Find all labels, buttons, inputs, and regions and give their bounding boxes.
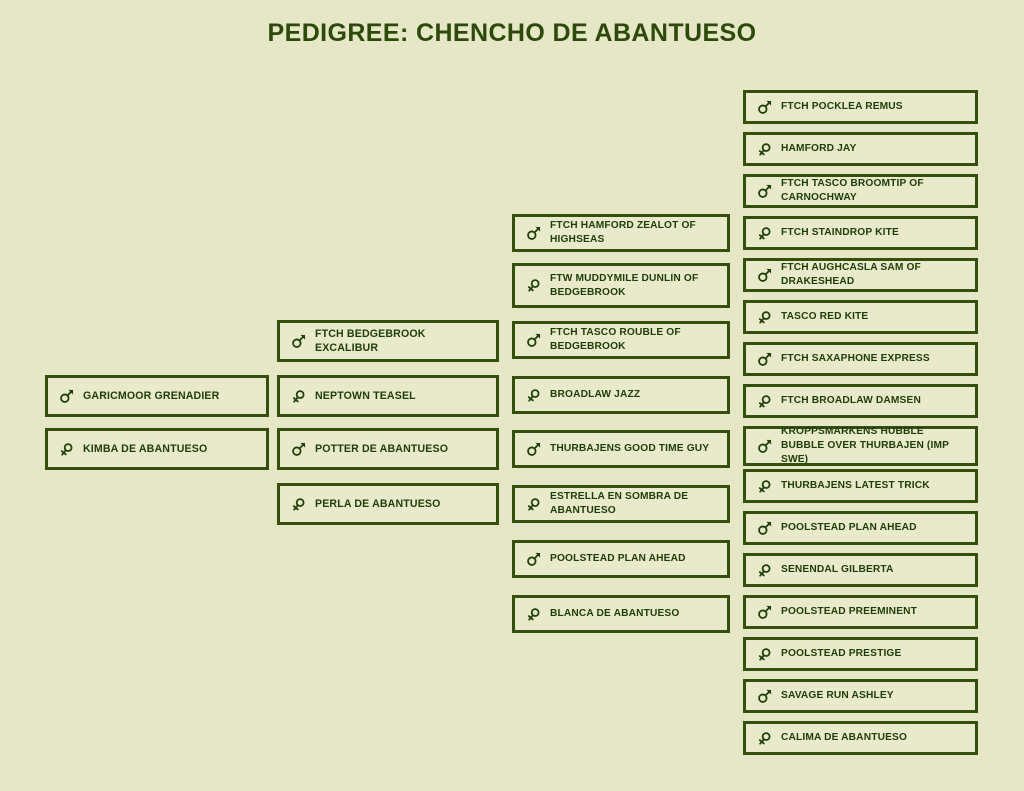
female-symbol-icon [291, 388, 306, 404]
dog-name: HAMFORD JAY [781, 142, 856, 156]
female-symbol-icon [757, 141, 772, 157]
dog-name: KIMBA DE ABANTUESO [83, 442, 207, 456]
pedigree-box[interactable]: SAVAGE RUN ASHLEY [743, 679, 978, 713]
pedigree-box[interactable]: FTCH TASCO ROUBLE OF BEDGEBROOK [512, 321, 730, 359]
dog-name: FTCH HAMFORD ZEALOT OF HIGHSEAS [550, 219, 721, 247]
dog-name: KROPPSMARKENS HUBBLE BUBBLE OVER THURBAJ… [781, 425, 969, 467]
pedigree-box[interactable]: KIMBA DE ABANTUESO [45, 428, 269, 470]
pedigree-box[interactable]: POOLSTEAD PRESTIGE [743, 637, 978, 671]
pedigree-box[interactable]: POOLSTEAD PLAN AHEAD [512, 540, 730, 578]
dog-name: BROADLAW JAZZ [550, 388, 640, 402]
pedigree-box[interactable]: CALIMA DE ABANTUESO [743, 721, 978, 755]
dog-name: THURBAJENS GOOD TIME GUY [550, 442, 709, 456]
dog-name: NEPTOWN TEASEL [315, 389, 416, 403]
pedigree-box[interactable]: NEPTOWN TEASEL [277, 375, 499, 417]
male-symbol-icon [757, 604, 772, 620]
pedigree-box[interactable]: PERLA DE ABANTUESO [277, 483, 499, 525]
male-symbol-icon [757, 99, 772, 115]
pedigree-box[interactable]: TASCO RED KITE [743, 300, 978, 334]
generation-column-4: FTCH POCKLEA REMUSHAMFORD JAYFTCH TASCO … [743, 0, 978, 791]
female-symbol-icon [757, 562, 772, 578]
pedigree-box[interactable]: POTTER DE ABANTUESO [277, 428, 499, 470]
male-symbol-icon [291, 333, 306, 349]
pedigree-box[interactable]: KROPPSMARKENS HUBBLE BUBBLE OVER THURBAJ… [743, 426, 978, 466]
male-symbol-icon [757, 183, 772, 199]
pedigree-box[interactable]: HAMFORD JAY [743, 132, 978, 166]
female-symbol-icon [526, 278, 541, 294]
pedigree-box[interactable]: FTCH AUGHCASLA SAM OF DRAKESHEAD [743, 258, 978, 292]
dog-name: FTCH POCKLEA REMUS [781, 100, 903, 114]
dog-name: FTCH AUGHCASLA SAM OF DRAKESHEAD [781, 261, 969, 289]
female-symbol-icon [757, 393, 772, 409]
dog-name: TASCO RED KITE [781, 310, 868, 324]
male-symbol-icon [757, 520, 772, 536]
pedigree-box[interactable]: FTCH STAINDROP KITE [743, 216, 978, 250]
pedigree-box[interactable]: GARICMOOR GRENADIER [45, 375, 269, 417]
female-symbol-icon [526, 387, 541, 403]
male-symbol-icon [526, 225, 541, 241]
pedigree-box[interactable]: FTCH BROADLAW DAMSEN [743, 384, 978, 418]
female-symbol-icon [757, 309, 772, 325]
pedigree-box[interactable]: FTCH POCKLEA REMUS [743, 90, 978, 124]
dog-name: FTCH TASCO BROOMTIP OF CARNOCHWAY [781, 177, 969, 205]
dog-name: SENENDAL GILBERTA [781, 563, 894, 577]
female-symbol-icon [757, 478, 772, 494]
dog-name: GARICMOOR GRENADIER [83, 389, 219, 403]
pedigree-box[interactable]: THURBAJENS LATEST TRICK [743, 469, 978, 503]
male-symbol-icon [757, 351, 772, 367]
male-symbol-icon [59, 388, 74, 404]
female-symbol-icon [59, 441, 74, 457]
dog-name: POTTER DE ABANTUESO [315, 442, 448, 456]
dog-name: PERLA DE ABANTUESO [315, 497, 441, 511]
dog-name: POOLSTEAD PLAN AHEAD [550, 552, 686, 566]
pedigree-box[interactable]: ESTRELLA EN SOMBRA DE ABANTUESO [512, 485, 730, 523]
female-symbol-icon [757, 646, 772, 662]
male-symbol-icon [757, 438, 772, 454]
pedigree-box[interactable]: FTCH BEDGEBROOK EXCALIBUR [277, 320, 499, 362]
dog-name: THURBAJENS LATEST TRICK [781, 479, 930, 493]
male-symbol-icon [526, 332, 541, 348]
dog-name: FTCH STAINDROP KITE [781, 226, 899, 240]
pedigree-box[interactable]: BLANCA DE ABANTUESO [512, 595, 730, 633]
male-symbol-icon [526, 441, 541, 457]
dog-name: FTCH BEDGEBROOK EXCALIBUR [315, 327, 490, 355]
pedigree-box[interactable]: SENENDAL GILBERTA [743, 553, 978, 587]
generation-column-2: FTCH BEDGEBROOK EXCALIBURNEPTOWN TEASELP… [277, 0, 499, 791]
female-symbol-icon [757, 730, 772, 746]
dog-name: FTCH BROADLAW DAMSEN [781, 394, 921, 408]
pedigree-box[interactable]: BROADLAW JAZZ [512, 376, 730, 414]
pedigree-chart: PEDIGREE: CHENCHO DE ABANTUESO GARICMOOR… [0, 0, 1024, 791]
pedigree-box[interactable]: POOLSTEAD PLAN AHEAD [743, 511, 978, 545]
dog-name: SAVAGE RUN ASHLEY [781, 689, 894, 703]
dog-name: FTW MUDDYMILE DUNLIN OF BEDGEBROOK [550, 272, 721, 300]
generation-column-3: FTCH HAMFORD ZEALOT OF HIGHSEASFTW MUDDY… [512, 0, 730, 791]
dog-name: ESTRELLA EN SOMBRA DE ABANTUESO [550, 490, 721, 518]
pedigree-box[interactable]: FTW MUDDYMILE DUNLIN OF BEDGEBROOK [512, 263, 730, 308]
female-symbol-icon [526, 606, 541, 622]
pedigree-box[interactable]: FTCH SAXAPHONE EXPRESS [743, 342, 978, 376]
pedigree-box[interactable]: FTCH TASCO BROOMTIP OF CARNOCHWAY [743, 174, 978, 208]
dog-name: BLANCA DE ABANTUESO [550, 607, 679, 621]
dog-name: FTCH SAXAPHONE EXPRESS [781, 352, 930, 366]
dog-name: POOLSTEAD PLAN AHEAD [781, 521, 917, 535]
female-symbol-icon [291, 496, 306, 512]
male-symbol-icon [757, 267, 772, 283]
male-symbol-icon [291, 441, 306, 457]
generation-column-1: GARICMOOR GRENADIERKIMBA DE ABANTUESO [45, 0, 269, 791]
dog-name: FTCH TASCO ROUBLE OF BEDGEBROOK [550, 326, 721, 354]
dog-name: POOLSTEAD PRESTIGE [781, 647, 901, 661]
dog-name: CALIMA DE ABANTUESO [781, 731, 907, 745]
pedigree-box[interactable]: THURBAJENS GOOD TIME GUY [512, 430, 730, 468]
pedigree-box[interactable]: FTCH HAMFORD ZEALOT OF HIGHSEAS [512, 214, 730, 252]
pedigree-box[interactable]: POOLSTEAD PREEMINENT [743, 595, 978, 629]
male-symbol-icon [757, 688, 772, 704]
dog-name: POOLSTEAD PREEMINENT [781, 605, 917, 619]
female-symbol-icon [757, 225, 772, 241]
male-symbol-icon [526, 551, 541, 567]
female-symbol-icon [526, 496, 541, 512]
